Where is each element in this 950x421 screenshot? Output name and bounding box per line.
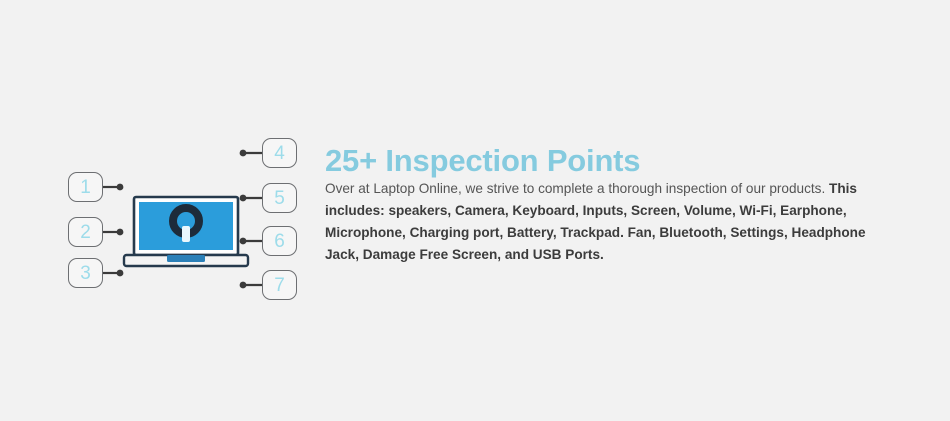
- laptop-trackpad: [167, 255, 205, 262]
- connector-dot-5: [240, 195, 247, 202]
- callout-number-3: 3: [80, 264, 91, 283]
- connector-dot-4: [240, 150, 247, 157]
- connector-dot-2: [117, 229, 124, 236]
- connector-dot-7: [240, 282, 247, 289]
- callout-number-4: 4: [274, 144, 285, 163]
- callout-number-6: 6: [274, 232, 285, 251]
- connector-dot-3: [117, 270, 124, 277]
- callout-box-2[interactable]: 2: [68, 217, 103, 247]
- callout-box-6[interactable]: 6: [262, 226, 297, 256]
- page-title: 25+ Inspection Points: [325, 143, 640, 179]
- callout-number-5: 5: [274, 189, 285, 208]
- callout-box-1[interactable]: 1: [68, 172, 103, 202]
- callout-number-1: 1: [80, 178, 91, 197]
- connector-dot-6: [240, 238, 247, 245]
- callout-box-3[interactable]: 3: [68, 258, 103, 288]
- callout-box-4[interactable]: 4: [262, 138, 297, 168]
- callout-number-2: 2: [80, 223, 91, 242]
- callout-box-7[interactable]: 7: [262, 270, 297, 300]
- description-block: Over at Laptop Online, we strive to comp…: [325, 178, 903, 266]
- callout-box-5[interactable]: 5: [262, 183, 297, 213]
- description-lead: Over at Laptop Online, we strive to comp…: [325, 181, 825, 196]
- callout-number-7: 7: [274, 276, 285, 295]
- laptop-icon: [124, 197, 248, 266]
- infographic-banner: 1 2 3 4 5 6 7 25+ Inspection Points Over…: [0, 0, 950, 421]
- connector-dot-1: [117, 184, 124, 191]
- laptop-callout-diagram: 1 2 3 4 5 6 7: [0, 0, 320, 421]
